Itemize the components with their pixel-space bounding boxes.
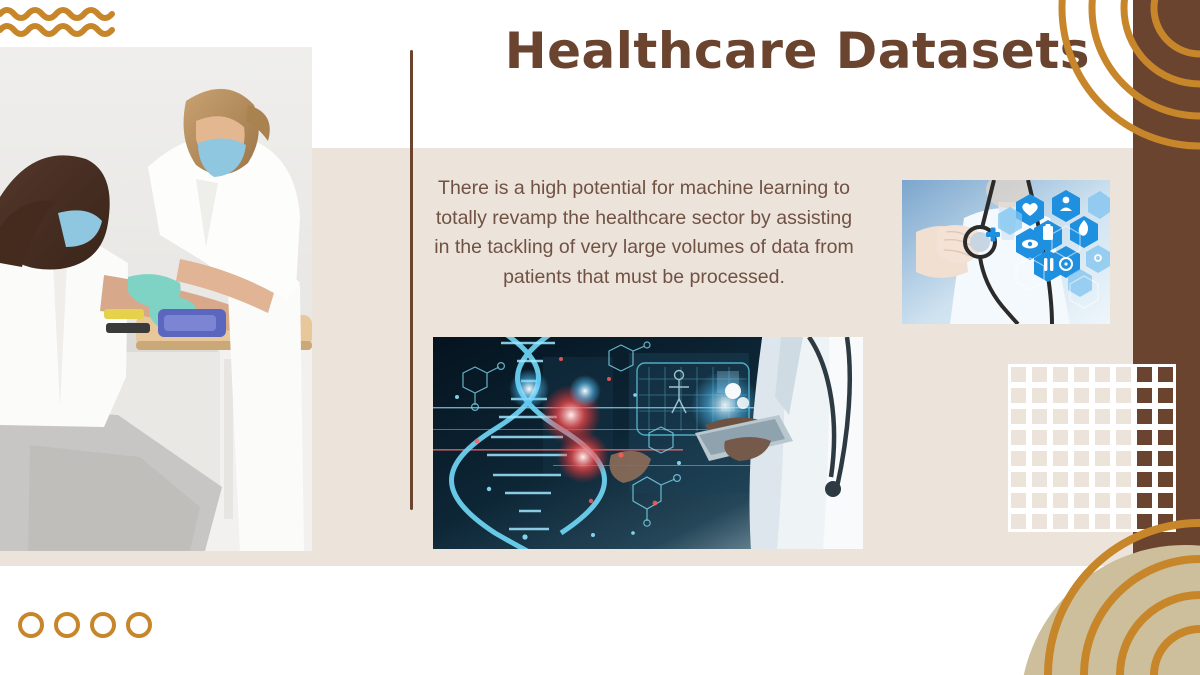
grid-cell xyxy=(1008,448,1029,469)
grid-cell xyxy=(1050,427,1071,448)
ring-dots-decoration xyxy=(18,612,158,646)
grid-cell xyxy=(1071,406,1092,427)
grid-cell xyxy=(1113,364,1134,385)
grid-cell xyxy=(1050,448,1071,469)
slide-canvas: Healthcare Datasets There is a high pote… xyxy=(0,0,1200,675)
grid-cell xyxy=(1134,406,1155,427)
vertical-divider xyxy=(410,50,413,510)
grid-cell xyxy=(1008,406,1029,427)
grid-cell xyxy=(1155,385,1176,406)
grid-cell xyxy=(1071,448,1092,469)
grid-cell xyxy=(1029,364,1050,385)
grid-cell xyxy=(1008,364,1029,385)
grid-cell xyxy=(1071,385,1092,406)
grid-cell xyxy=(1029,406,1050,427)
grid-cell xyxy=(1092,406,1113,427)
clinic-blood-draw-photo xyxy=(0,47,312,551)
grid-cell xyxy=(1134,427,1155,448)
grid-cell xyxy=(1050,364,1071,385)
grid-cell xyxy=(1134,364,1155,385)
ring-dot xyxy=(18,612,44,638)
grid-cell xyxy=(1008,385,1029,406)
grid-cell xyxy=(1008,427,1029,448)
grid-cell xyxy=(1155,364,1176,385)
grid-cell xyxy=(1050,385,1071,406)
grid-cell xyxy=(1134,385,1155,406)
ring-dot xyxy=(54,612,80,638)
grid-cell xyxy=(1071,427,1092,448)
grid-cell xyxy=(1134,448,1155,469)
dna-tablet-photo xyxy=(433,337,863,549)
concentric-arcs-bottom-right xyxy=(980,475,1200,675)
ring-dot xyxy=(90,612,116,638)
grid-cell xyxy=(1092,427,1113,448)
grid-cell xyxy=(1092,385,1113,406)
body-paragraph: There is a high potential for machine le… xyxy=(430,174,858,293)
slide-title: Healthcare Datasets xyxy=(430,14,1090,88)
grid-cell xyxy=(1050,406,1071,427)
grid-cell xyxy=(1029,385,1050,406)
stethoscope-icons-photo xyxy=(902,180,1110,324)
grid-cell xyxy=(1155,427,1176,448)
grid-cell xyxy=(1092,364,1113,385)
grid-cell xyxy=(1113,406,1134,427)
grid-cell xyxy=(1029,427,1050,448)
grid-cell xyxy=(1113,385,1134,406)
grid-cell xyxy=(1113,427,1134,448)
grid-cell xyxy=(1092,448,1113,469)
grid-cell xyxy=(1029,448,1050,469)
ring-dot xyxy=(126,612,152,638)
grid-cell xyxy=(1155,406,1176,427)
grid-cell xyxy=(1113,448,1134,469)
wave-lines-decoration xyxy=(0,6,118,40)
grid-cell xyxy=(1155,448,1176,469)
concentric-arcs-top-right xyxy=(1000,0,1200,200)
grid-cell xyxy=(1071,364,1092,385)
